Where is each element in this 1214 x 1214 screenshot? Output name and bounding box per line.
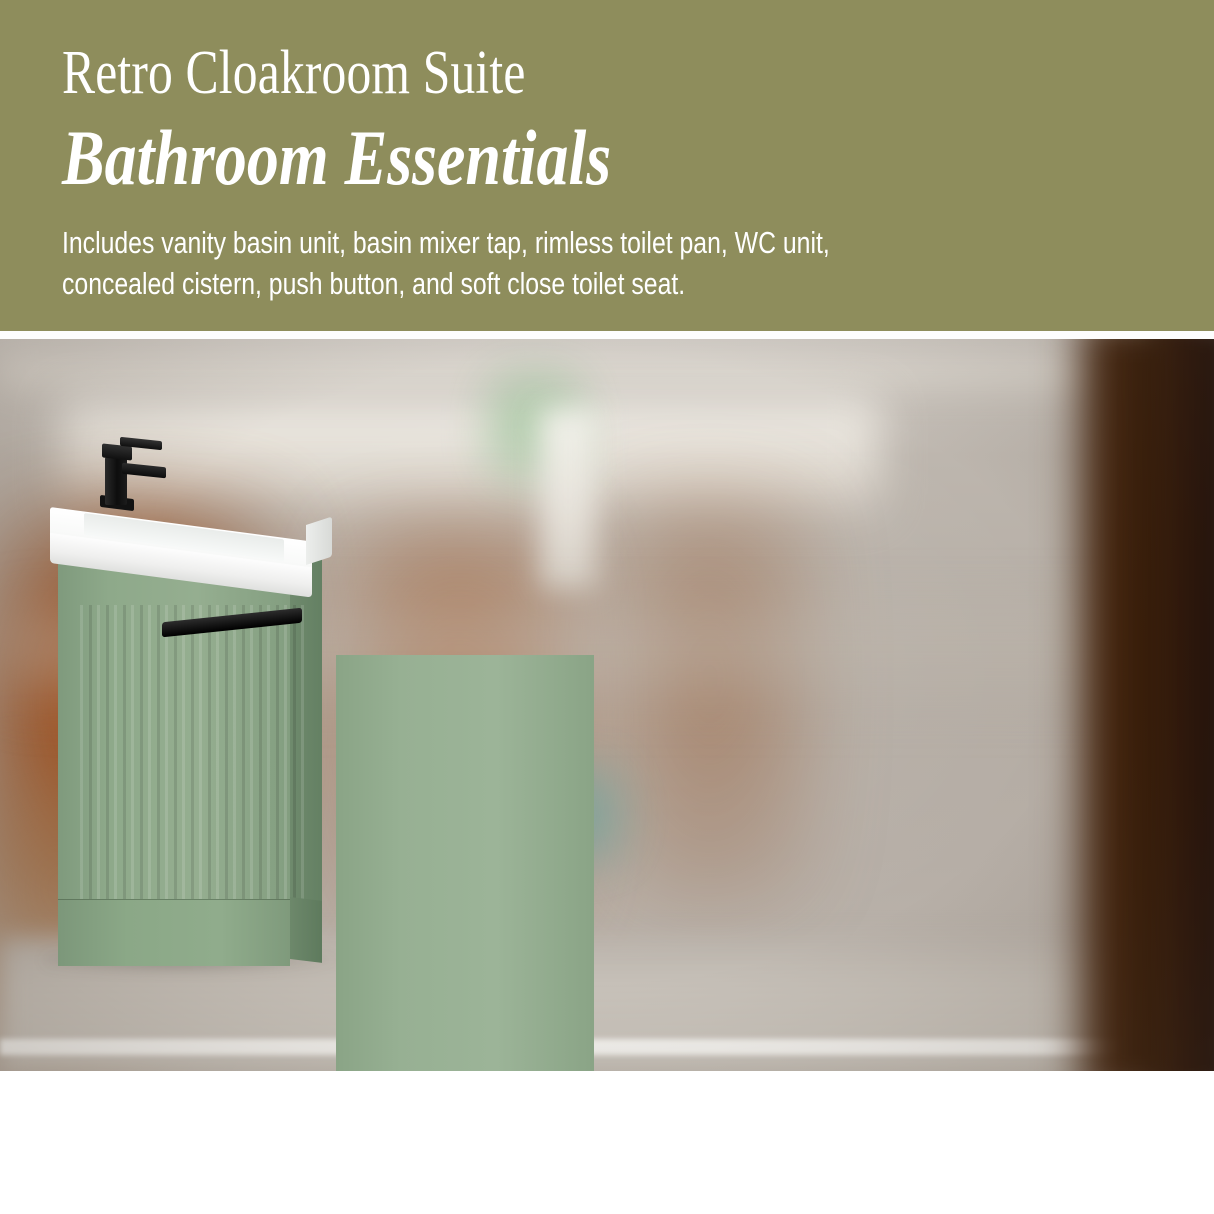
page-title: Retro Cloakroom Suite <box>62 38 526 108</box>
product-poster: Retro Cloakroom Suite Bathroom Essential… <box>0 0 1214 1214</box>
vanity-plinth <box>58 899 290 966</box>
wc-cabinet-front <box>336 655 594 1071</box>
basin <box>50 507 326 569</box>
header-description-line-2: concealed cistern, push button, and soft… <box>62 263 1182 304</box>
basin-right-side <box>306 517 332 565</box>
product-photo: Space-Saving Design Modern Satin Finish <box>0 339 1214 1071</box>
header-description: Includes vanity basin unit, basin mixer … <box>62 222 1182 304</box>
vanity-basin-unit <box>38 507 328 1015</box>
basin-mixer-tap <box>100 439 170 515</box>
header-description-line-1: Includes vanity basin unit, basin mixer … <box>62 222 1182 263</box>
header-band: Retro Cloakroom Suite Bathroom Essential… <box>0 0 1214 331</box>
vanity-fluted-texture <box>80 605 308 949</box>
vanity-cabinet-front <box>58 555 290 955</box>
wc-unit <box>288 629 618 1071</box>
header-divider <box>0 331 1214 339</box>
tap-spout <box>122 463 166 479</box>
page-subtitle: Bathroom Essentials <box>62 116 611 200</box>
